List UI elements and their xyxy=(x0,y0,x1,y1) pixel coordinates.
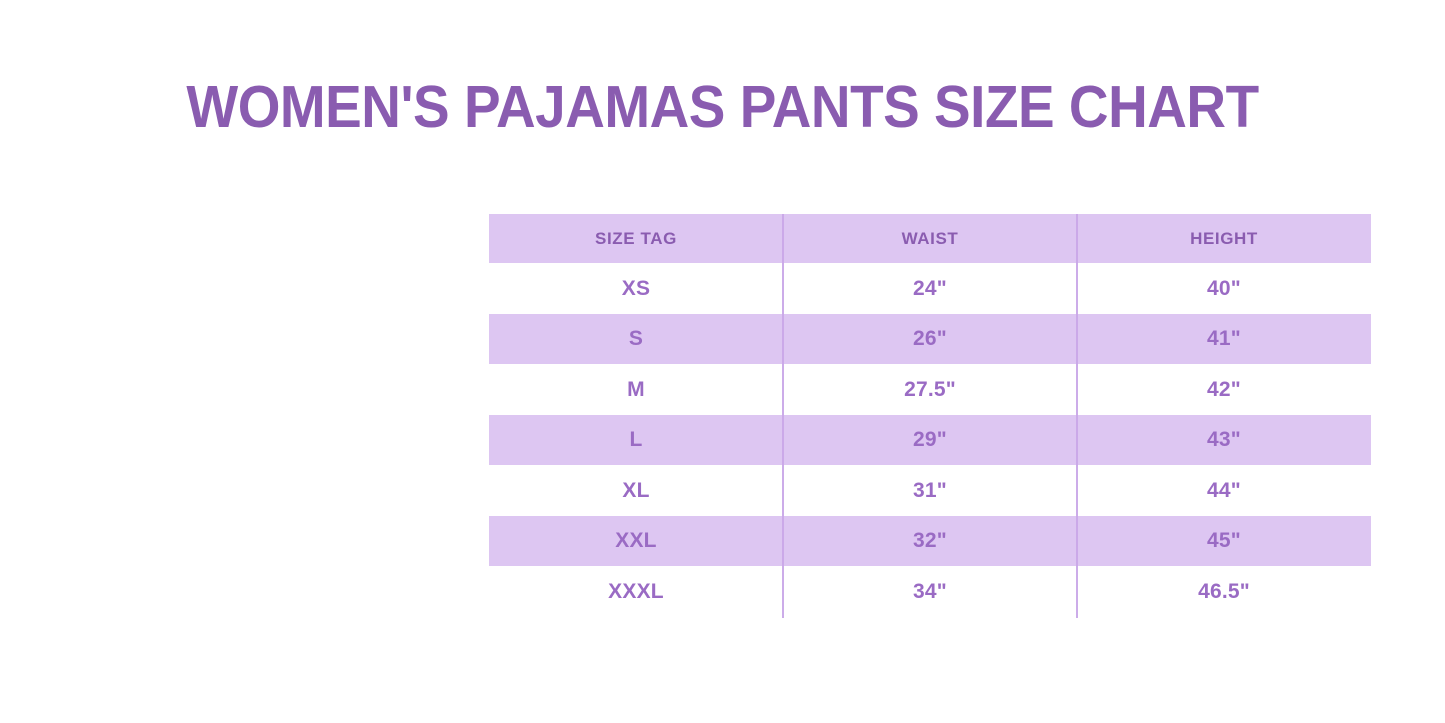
table-header-row: SIZE TAG WAIST HEIGHT xyxy=(489,214,1371,263)
table-row: XXXL 34" 46.5" xyxy=(489,566,1371,617)
table-row: L 29" 43" xyxy=(489,415,1371,466)
column-divider-right xyxy=(1076,214,1078,618)
cell-height: 45" xyxy=(1077,516,1371,567)
cell-size-tag: M xyxy=(489,364,783,415)
page-title: WOMEN'S PAJAMAS PANTS SIZE CHART xyxy=(51,72,1395,142)
cell-waist: 29" xyxy=(783,415,1077,466)
cell-waist-value: 26" xyxy=(783,328,1077,349)
cell-size-tag-value: XXL xyxy=(489,530,783,551)
column-header-height-label: HEIGHT xyxy=(1077,230,1371,247)
cell-height-value: 45" xyxy=(1077,530,1371,551)
table-row: XL 31" 44" xyxy=(489,465,1371,516)
cell-waist-value: 27.5" xyxy=(783,379,1077,400)
cell-size-tag: L xyxy=(489,415,783,466)
cell-waist-value: 24" xyxy=(783,278,1077,299)
cell-size-tag: XXL xyxy=(489,516,783,567)
cell-height: 41" xyxy=(1077,314,1371,365)
cell-waist-value: 34" xyxy=(783,581,1077,602)
cell-size-tag: XS xyxy=(489,263,783,314)
cell-height-value: 42" xyxy=(1077,379,1371,400)
cell-height-value: 44" xyxy=(1077,480,1371,501)
cell-height: 43" xyxy=(1077,415,1371,466)
table-row: XXL 32" 45" xyxy=(489,516,1371,567)
cell-waist-value: 32" xyxy=(783,530,1077,551)
column-divider-left xyxy=(782,214,784,618)
cell-size-tag: XL xyxy=(489,465,783,516)
cell-size-tag: XXXL xyxy=(489,566,783,617)
cell-size-tag: S xyxy=(489,314,783,365)
cell-waist: 34" xyxy=(783,566,1077,617)
size-chart-table-container: SIZE TAG WAIST HEIGHT XS 24" xyxy=(489,214,1371,618)
cell-waist: 31" xyxy=(783,465,1077,516)
cell-height-value: 46.5" xyxy=(1077,581,1371,602)
cell-waist-value: 29" xyxy=(783,429,1077,450)
table-body: XS 24" 40" S 26" xyxy=(489,263,1371,617)
column-header-size-tag: SIZE TAG xyxy=(489,214,783,263)
cell-waist: 27.5" xyxy=(783,364,1077,415)
cell-waist-value: 31" xyxy=(783,480,1077,501)
table-row: S 26" 41" xyxy=(489,314,1371,365)
column-header-waist: WAIST xyxy=(783,214,1077,263)
table-header: SIZE TAG WAIST HEIGHT xyxy=(489,214,1371,263)
column-header-height: HEIGHT xyxy=(1077,214,1371,263)
cell-waist: 32" xyxy=(783,516,1077,567)
column-header-waist-label: WAIST xyxy=(783,230,1077,247)
cell-height-value: 43" xyxy=(1077,429,1371,450)
table-row: M 27.5" 42" xyxy=(489,364,1371,415)
column-header-size-tag-label: SIZE TAG xyxy=(489,230,783,247)
cell-size-tag-value: L xyxy=(489,429,783,450)
cell-size-tag-value: M xyxy=(489,379,783,400)
cell-height: 46.5" xyxy=(1077,566,1371,617)
cell-height: 44" xyxy=(1077,465,1371,516)
cell-size-tag-value: S xyxy=(489,328,783,349)
cell-height-value: 41" xyxy=(1077,328,1371,349)
cell-waist: 26" xyxy=(783,314,1077,365)
cell-height-value: 40" xyxy=(1077,278,1371,299)
size-chart-table: SIZE TAG WAIST HEIGHT XS 24" xyxy=(489,214,1371,617)
cell-size-tag-value: XS xyxy=(489,278,783,299)
cell-height: 42" xyxy=(1077,364,1371,415)
cell-size-tag-value: XL xyxy=(489,480,783,501)
size-chart-page: WOMEN'S PAJAMAS PANTS SIZE CHART SIZE TA… xyxy=(0,0,1445,723)
cell-size-tag-value: XXXL xyxy=(489,581,783,602)
cell-height: 40" xyxy=(1077,263,1371,314)
table-row: XS 24" 40" xyxy=(489,263,1371,314)
cell-waist: 24" xyxy=(783,263,1077,314)
